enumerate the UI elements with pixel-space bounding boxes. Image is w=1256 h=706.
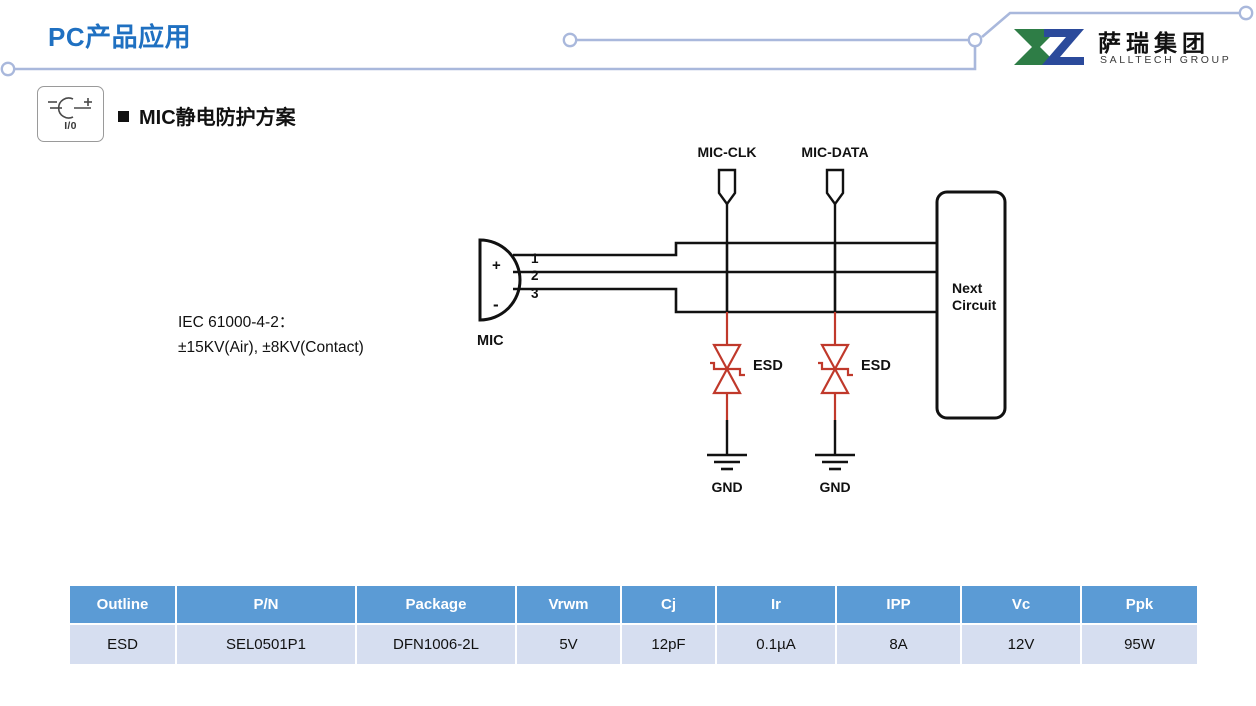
cell-cj: 12pF	[622, 625, 715, 664]
logo-mark-icon	[1010, 27, 1090, 69]
esd-label-1: ESD	[753, 358, 783, 374]
column-header-vc: Vc	[962, 586, 1080, 623]
gnd-label-1: GND	[711, 479, 742, 495]
column-header-ppk: Ppk	[1082, 586, 1197, 623]
cell-package: DFN1006-2L	[357, 625, 515, 664]
mic-plus-label: +	[492, 257, 501, 274]
column-header-outline: Outline	[70, 586, 175, 623]
mic-minus-label: -	[493, 295, 499, 314]
pin-2-label: 2	[531, 268, 539, 283]
column-header-vrwm: Vrwm	[517, 586, 620, 623]
column-header-pn: P/N	[177, 586, 355, 623]
column-header-ipp: IPP	[837, 586, 960, 623]
gnd-label-2: GND	[819, 479, 850, 495]
esd-label-2: ESD	[861, 358, 891, 374]
cell-ppk: 95W	[1082, 625, 1197, 664]
cell-vrwm: 5V	[517, 625, 620, 664]
next-circuit-line2: Circuit	[952, 297, 997, 313]
company-logo: 萨瑞集团 SALLTECH GROUP	[1010, 24, 1250, 72]
signal-label-mic-clk: MIC-CLK	[697, 144, 756, 160]
table-header-row: Outline P/N Package Vrwm Cj Ir IPP Vc Pp…	[70, 586, 1197, 623]
specification-table: Outline P/N Package Vrwm Cj Ir IPP Vc Pp…	[68, 584, 1199, 666]
section-bullet-icon	[118, 111, 129, 122]
column-header-package: Package	[357, 586, 515, 623]
iec-note-line1: IEC 61000-4-2：	[178, 310, 364, 335]
iec-standard-note: IEC 61000-4-2： ±15KV(Air), ±8KV(Contact)	[178, 310, 364, 360]
next-circuit-line1: Next	[952, 280, 983, 296]
column-header-ir: Ir	[717, 586, 835, 623]
io-icon: I/0	[37, 86, 104, 142]
page-title: PC产品应用	[48, 17, 191, 54]
cell-vc: 12V	[962, 625, 1080, 664]
iec-note-line2: ±15KV(Air), ±8KV(Contact)	[178, 335, 364, 360]
table-row: ESD SEL0501P1 DFN1006-2L 5V 12pF 0.1µA 8…	[70, 625, 1197, 664]
cell-outline: ESD	[70, 625, 175, 664]
signal-label-mic-data: MIC-DATA	[801, 144, 868, 160]
io-symbol-icon	[38, 87, 103, 141]
io-icon-label: I/0	[38, 120, 103, 132]
section-title: MIC静电防护方案	[139, 101, 296, 130]
cell-pn: SEL0501P1	[177, 625, 355, 664]
column-header-cj: Cj	[622, 586, 715, 623]
cell-ir: 0.1µA	[717, 625, 835, 664]
cell-ipp: 8A	[837, 625, 960, 664]
mic-esd-protection-schematic: + - MIC 1 2 3 MIC-CLK MIC-DATA GND ESD	[455, 130, 1035, 510]
logo-english-name: SALLTECH GROUP	[1100, 54, 1231, 66]
mic-label: MIC	[477, 333, 504, 349]
logo-chinese-name: 萨瑞集团	[1098, 24, 1210, 58]
pin-1-label: 1	[531, 251, 539, 266]
